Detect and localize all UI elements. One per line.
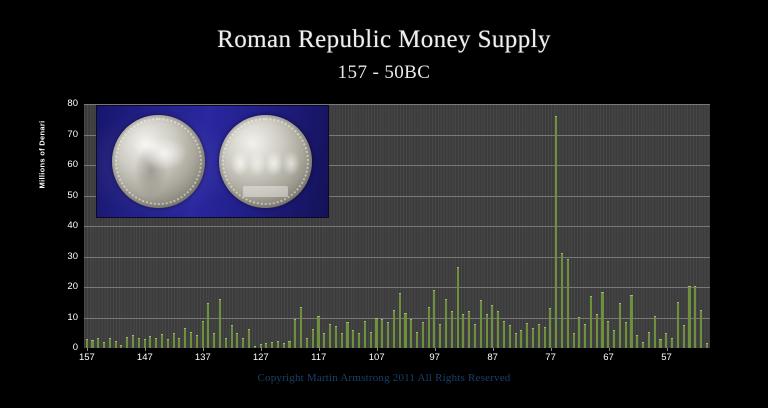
bar [544, 327, 546, 348]
x-tick-mark [87, 348, 88, 351]
coin-exergue-icon [243, 186, 288, 197]
bar [288, 341, 290, 348]
bar [497, 311, 499, 348]
bar [503, 321, 505, 348]
bar [248, 329, 250, 348]
bar [549, 308, 551, 348]
bar [271, 342, 273, 348]
bar [138, 338, 140, 348]
bar [428, 307, 430, 348]
y-tick-label: 20 [38, 281, 78, 292]
bar [706, 343, 708, 348]
bar [462, 314, 464, 348]
bar [178, 338, 180, 348]
bar [335, 326, 337, 348]
bar [654, 316, 656, 348]
bar [225, 338, 227, 348]
bar [399, 293, 401, 348]
x-tick-mark [377, 348, 378, 351]
bar [515, 333, 517, 348]
bar [346, 322, 348, 348]
bar [306, 338, 308, 348]
y-tick-label: 80 [38, 98, 78, 109]
bar [416, 332, 418, 348]
chart-page: Roman Republic Money Supply 157 - 50BC M… [0, 0, 768, 408]
x-tick-label: 147 [125, 352, 165, 363]
bar [352, 330, 354, 348]
bar [671, 338, 673, 348]
bar [196, 335, 198, 348]
bar [480, 300, 482, 348]
bar [457, 267, 459, 348]
bar [625, 322, 627, 348]
y-tick-label: 30 [38, 251, 78, 262]
roman-denarius-photo [96, 105, 329, 218]
roma-head-relief-icon [120, 123, 196, 199]
bar [520, 330, 522, 348]
bar [659, 339, 661, 348]
bar [555, 116, 557, 348]
bar [451, 311, 453, 348]
x-tick-label: 87 [473, 352, 513, 363]
bar [277, 341, 279, 348]
bar [144, 339, 146, 348]
bar [86, 339, 88, 348]
x-tick-mark [319, 348, 320, 351]
bar [486, 314, 488, 348]
bar [509, 325, 511, 348]
bar [242, 338, 244, 348]
bar [109, 338, 111, 348]
x-tick-mark [203, 348, 204, 351]
bar [601, 292, 603, 348]
bar [300, 307, 302, 348]
x-tick-mark [551, 348, 552, 351]
bar [283, 343, 285, 348]
bar [364, 321, 366, 348]
bar [694, 286, 696, 348]
x-tick-mark [145, 348, 146, 351]
bar [445, 299, 447, 348]
x-tick-mark [667, 348, 668, 351]
bar [648, 332, 650, 348]
x-tick-label: 57 [647, 352, 687, 363]
bar [619, 303, 621, 348]
x-tick-label: 67 [589, 352, 629, 363]
bar [573, 333, 575, 348]
page-title: Roman Republic Money Supply [0, 26, 768, 54]
bar [294, 319, 296, 348]
x-tick-label: 77 [531, 352, 571, 363]
bar [329, 324, 331, 348]
bar [265, 343, 267, 348]
x-tick-mark [609, 348, 610, 351]
bar [683, 325, 685, 348]
bar [358, 333, 360, 348]
bar [167, 339, 169, 348]
bar [584, 324, 586, 348]
bar [260, 344, 262, 348]
bar [91, 340, 93, 348]
bar [236, 333, 238, 348]
bar [231, 325, 233, 348]
bar [561, 253, 563, 348]
bar [468, 311, 470, 348]
x-tick-mark [261, 348, 262, 351]
bar [190, 332, 192, 348]
bar [317, 316, 319, 348]
bar [474, 324, 476, 348]
bar [491, 305, 493, 348]
bar [375, 318, 377, 349]
copyright-notice: Copyright Martin Armstrong 2011 All Righ… [0, 372, 768, 384]
bar [439, 324, 441, 348]
bar [410, 319, 412, 348]
bar [161, 334, 163, 348]
bar [404, 313, 406, 348]
bar [132, 335, 134, 348]
bar [578, 317, 580, 348]
bar [149, 336, 151, 348]
bar [202, 321, 204, 348]
bar [532, 328, 534, 348]
x-tick-label: 127 [241, 352, 281, 363]
coin-obverse-icon [112, 115, 205, 208]
bar [323, 333, 325, 348]
bar [642, 342, 644, 348]
x-tick-label: 117 [299, 352, 339, 363]
bar [103, 342, 105, 348]
bar [155, 338, 157, 348]
page-subtitle: 157 - 50BC [0, 62, 768, 84]
bar [213, 333, 215, 348]
x-tick-label: 157 [67, 352, 107, 363]
bar [97, 338, 99, 348]
bar [613, 330, 615, 348]
bar [219, 299, 221, 348]
bar [312, 329, 314, 348]
x-tick-label: 137 [183, 352, 223, 363]
y-tick-label: 60 [38, 159, 78, 170]
bar [341, 333, 343, 348]
bar [422, 322, 424, 348]
bar [381, 319, 383, 348]
bar [115, 341, 117, 348]
y-tick-label: 40 [38, 220, 78, 231]
bar [433, 290, 435, 348]
bar [120, 345, 122, 348]
bar [173, 333, 175, 348]
x-tick-label: 97 [415, 352, 455, 363]
x-tick-label: 107 [357, 352, 397, 363]
bar [526, 323, 528, 348]
bar [538, 324, 540, 348]
bar [126, 337, 128, 348]
bar [254, 346, 256, 348]
bar [184, 328, 186, 348]
dioscuri-horses-relief-icon [230, 143, 301, 180]
bar [567, 259, 569, 348]
x-tick-mark [493, 348, 494, 351]
bar [700, 310, 702, 348]
bar [596, 314, 598, 348]
bar [677, 302, 679, 348]
bar [607, 321, 609, 348]
bar [688, 286, 690, 348]
y-tick-label: 10 [38, 312, 78, 323]
y-tick-label: 50 [38, 190, 78, 201]
bar [636, 335, 638, 348]
bar [590, 296, 592, 348]
bar [370, 332, 372, 348]
bar [387, 322, 389, 348]
coin-reverse-icon [219, 115, 312, 208]
bar [630, 295, 632, 348]
x-tick-mark [435, 348, 436, 351]
bar [665, 333, 667, 348]
y-tick-label: 70 [38, 129, 78, 140]
bar [393, 310, 395, 348]
bar [207, 303, 209, 348]
